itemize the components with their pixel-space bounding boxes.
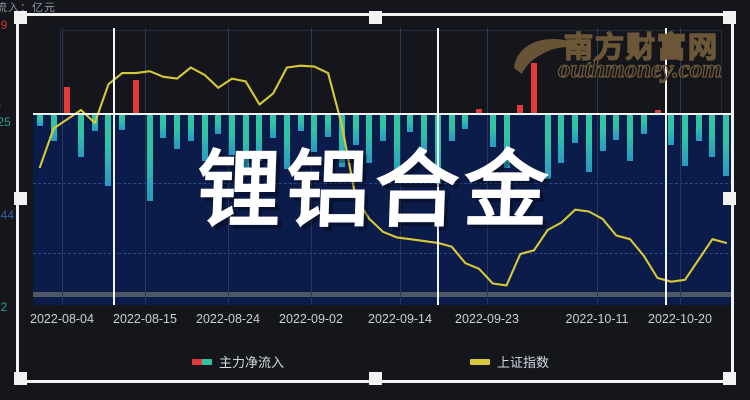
legend-swatch-icon — [192, 359, 212, 365]
legend-swatch-icon — [470, 359, 490, 365]
x-axis-tick-label: 2022-08-24 — [196, 312, 260, 326]
legend-label: 上证指数 — [497, 352, 549, 371]
y-axis-tick-label: .25 — [0, 115, 11, 129]
x-axis-tick-label: 2022-09-14 — [368, 312, 432, 326]
chart-screenshot: 流入：亿元 390.2564462 南方财富网 outhmoney.com 锂铝… — [0, 0, 750, 400]
x-axis-tick-label: 2022-09-23 — [455, 312, 519, 326]
page-title: 锂铝合金 — [0, 148, 750, 232]
x-axis-tick-label: 2022-08-04 — [30, 312, 94, 326]
x-axis-labels: 2022-08-042022-08-152022-08-242022-09-02… — [0, 312, 750, 334]
x-axis-tick-label: 2022-10-20 — [648, 312, 712, 326]
y-axis-tick-label: 39 — [0, 18, 7, 32]
x-axis-tick-label: 2022-09-02 — [279, 312, 343, 326]
x-axis-tick-label: 2022-08-15 — [113, 312, 177, 326]
x-axis-tick-label: 2022-10-11 — [565, 312, 628, 326]
y-axis-tick-label: 0 — [0, 99, 1, 113]
legend-label: 主力净流入 — [219, 352, 284, 371]
legend-item[interactable]: 上证指数 — [470, 352, 549, 371]
chart-legend: 主力净流入上证指数 — [0, 352, 750, 376]
zero-reference-line — [33, 113, 733, 115]
legend-item[interactable]: 主力净流入 — [192, 352, 284, 371]
